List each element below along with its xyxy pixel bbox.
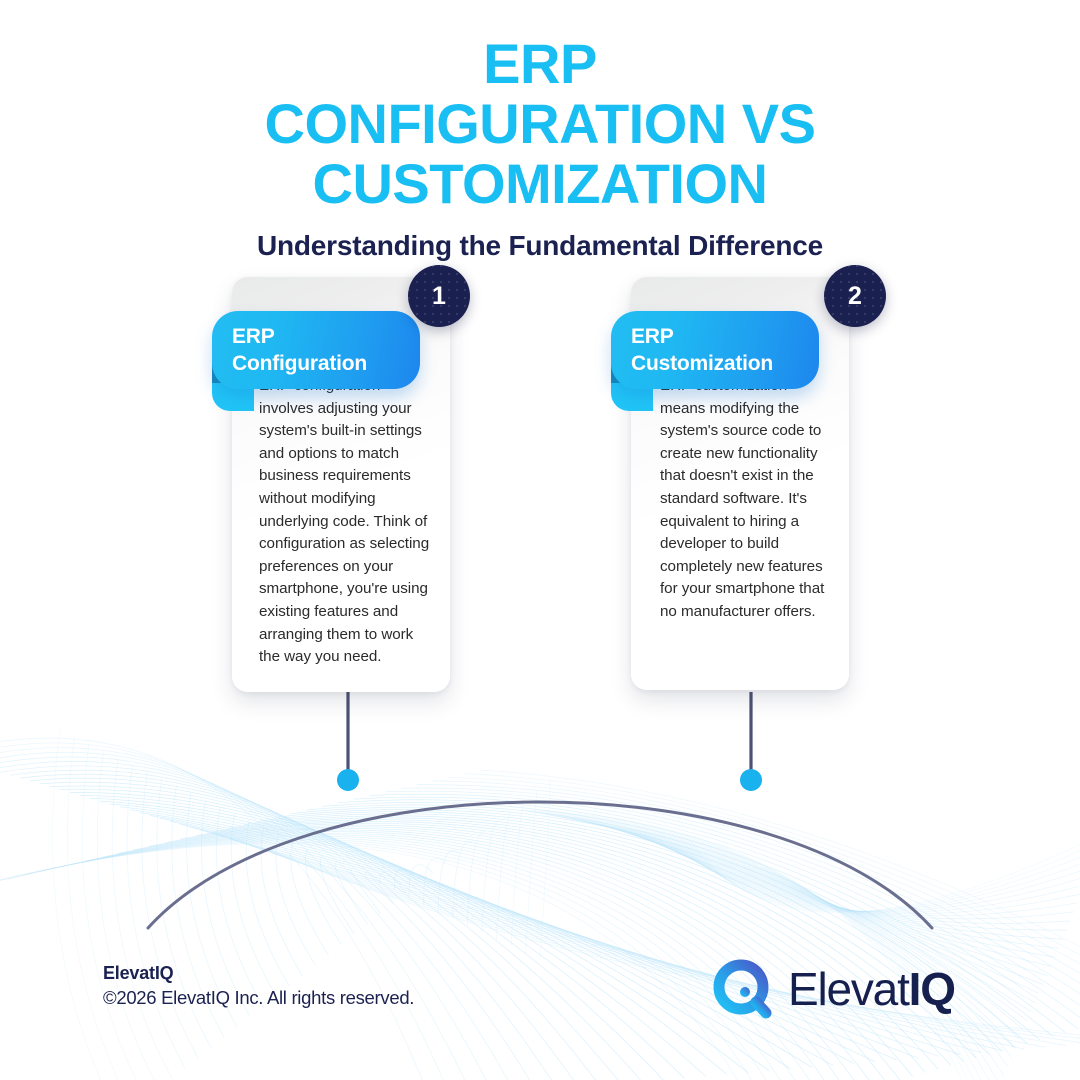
card-label-group: ERP Customization xyxy=(611,311,819,389)
timeline-node-dot-2 xyxy=(740,769,762,791)
card-body-text: ERP customization means modifying the sy… xyxy=(660,375,833,624)
card-label-line-1: ERP xyxy=(631,325,674,348)
footer-copyright-block: ElevatIQ ©2026 ElevatIQ Inc. All rights … xyxy=(103,963,414,1009)
card-label-tab[interactable]: ERP Customization xyxy=(611,311,819,389)
card-label-line-1: ERP xyxy=(232,325,275,348)
card-number-badge-2: 2 xyxy=(824,265,886,327)
logo-wordmark-bold: IQ xyxy=(909,963,955,1015)
elevatiq-q-logo-icon xyxy=(712,958,774,1020)
card-label-line-2: Configuration xyxy=(232,352,367,375)
card-number-badge-1: 1 xyxy=(408,265,470,327)
timeline-arc xyxy=(148,802,932,928)
card-body-text: ERP configuration involves adjusting you… xyxy=(259,375,434,669)
card-label-group: ERP Configuration xyxy=(212,311,420,389)
card-label-line-2: Customization xyxy=(631,352,773,375)
card-erp-configuration[interactable]: ERP configuration involves adjusting you… xyxy=(232,277,450,692)
timeline-node-dot-1 xyxy=(337,769,359,791)
footer-brand-name: ElevatIQ xyxy=(103,963,414,984)
page-title: ERP CONFIGURATION VS CUSTOMIZATION xyxy=(0,0,1080,212)
background-mesh-decoration xyxy=(0,700,1080,1080)
card-erp-customization[interactable]: ERP customization means modifying the sy… xyxy=(631,277,849,690)
title-line-1: ERP xyxy=(0,36,1080,92)
footer-copyright-text: ©2026 ElevatIQ Inc. All rights reserved. xyxy=(103,987,414,1009)
title-line-3: CUSTOMIZATION xyxy=(0,156,1080,212)
header: ERP CONFIGURATION VS CUSTOMIZATION Under… xyxy=(0,0,1080,262)
title-line-2: CONFIGURATION VS xyxy=(0,96,1080,152)
page-subtitle: Understanding the Fundamental Difference xyxy=(0,230,1080,262)
logo-wordmark-light: Elevat xyxy=(788,963,909,1015)
card-label-tab[interactable]: ERP Configuration xyxy=(212,311,420,389)
brand-logo: ElevatIQ xyxy=(712,958,955,1020)
logo-wordmark: ElevatIQ xyxy=(788,966,955,1012)
